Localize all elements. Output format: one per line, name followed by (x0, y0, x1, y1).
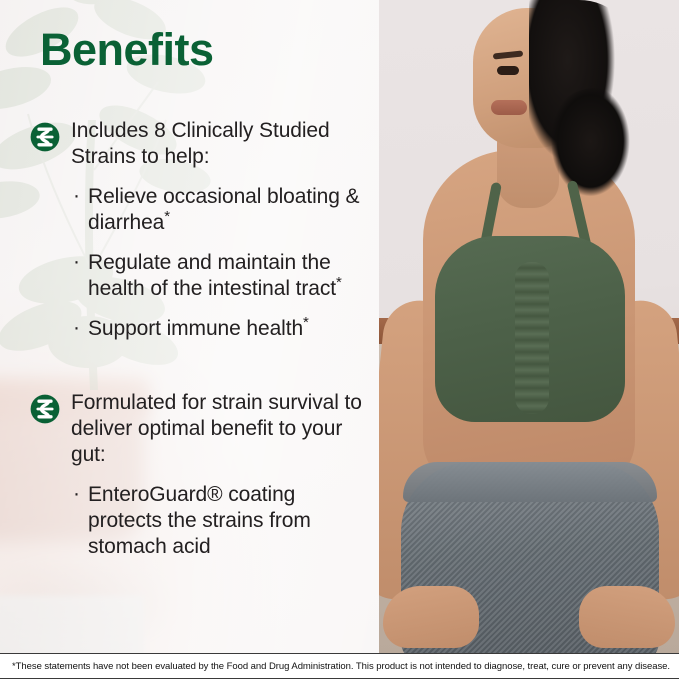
hand-left (383, 586, 479, 648)
disclaimer-bar: *These statements have not been evaluate… (0, 653, 679, 679)
gut-icon (30, 122, 60, 152)
benefit-section-2-body: Formulated for strain survival to delive… (71, 390, 370, 560)
asterisk-mark: * (336, 274, 342, 291)
bullet-text: Relieve occasional bloating & diarrhea (88, 185, 359, 234)
bullet-text: Support immune health (88, 317, 303, 340)
benefits-panel: Benefits Includes 8 Clinically Studied S… (0, 0, 379, 653)
eye-left (497, 66, 519, 75)
gut-icon (30, 394, 60, 424)
hand-right (579, 586, 675, 648)
hair-curls (549, 88, 641, 206)
bullet-text: EnteroGuard® coating protects the strain… (88, 483, 311, 558)
leggings-waistband (403, 462, 657, 502)
page-title: Benefits (40, 27, 214, 72)
bullet-text: Regulate and maintain the health of the … (88, 251, 336, 300)
infographic-canvas: Benefits Includes 8 Clinically Studied S… (0, 0, 679, 679)
lips (491, 100, 527, 115)
benefit-section-2: Formulated for strain survival to delive… (30, 390, 370, 560)
list-item: EnteroGuard® coating protects the strain… (71, 482, 370, 560)
list-item: Support immune health* (71, 316, 370, 342)
eyebrow-left (493, 50, 523, 59)
list-item: Regulate and maintain the health of the … (71, 250, 370, 302)
asterisk-mark: * (164, 208, 170, 225)
benefit-section-1: Includes 8 Clinically Studied Strains to… (30, 118, 370, 342)
benefit-lead-1: Includes 8 Clinically Studied Strains to… (71, 118, 370, 170)
benefit-lead-2: Formulated for strain survival to delive… (71, 390, 370, 468)
benefit-section-1-body: Includes 8 Clinically Studied Strains to… (71, 118, 370, 342)
list-item: Relieve occasional bloating & diarrhea* (71, 184, 370, 236)
asterisk-mark: * (303, 314, 309, 331)
benefit-bullet-list-1: Relieve occasional bloating & diarrhea* … (71, 184, 370, 342)
disclaimer-text: *These statements have not been evaluate… (0, 661, 670, 672)
benefit-bullet-list-2: EnteroGuard® coating protects the strain… (71, 482, 370, 560)
crop-top-ruching (515, 262, 549, 414)
product-lifestyle-photo (379, 0, 679, 653)
